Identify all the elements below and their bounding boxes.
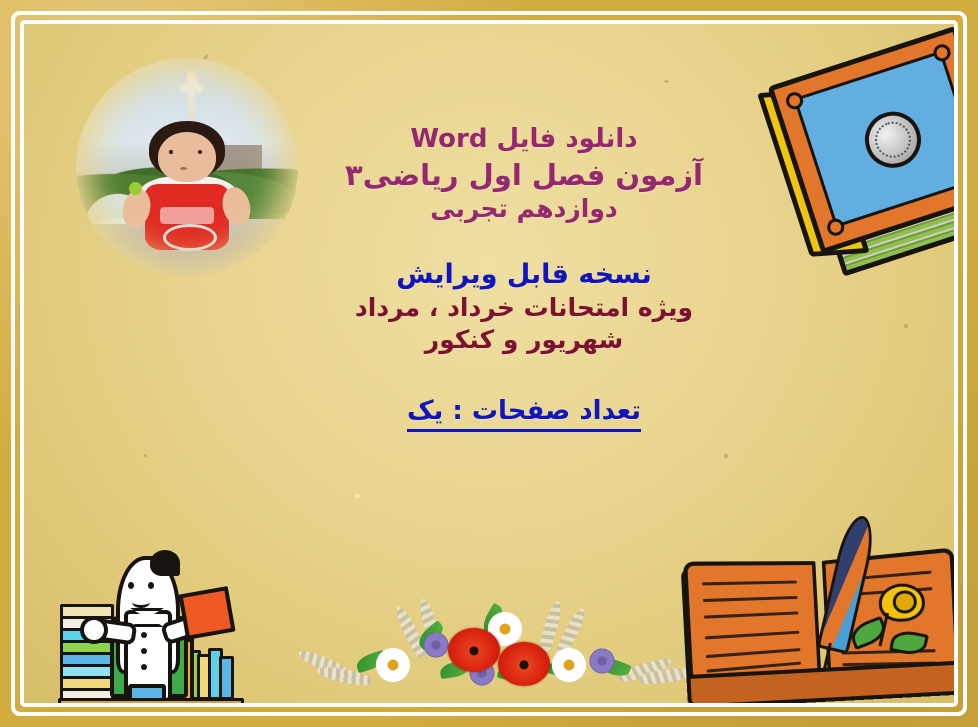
librarian-character-with-books-icon xyxy=(58,536,250,703)
headline-line-3: دوازدهم تجربی xyxy=(274,194,774,224)
open-book-with-quill-icon xyxy=(680,545,954,703)
text-spacer xyxy=(274,354,774,396)
poster-text-block: دانلود فایل Word آزمون فصل اول ریاضی۳ دو… xyxy=(274,124,774,432)
headline-line-1: دانلود فایل Word xyxy=(274,124,774,155)
paper-speck xyxy=(144,454,147,457)
subhead-editable-version: نسخه قابل ویرایش xyxy=(274,259,774,291)
subhead-konkur: شهریور و کنکور xyxy=(274,325,774,355)
paper-speck xyxy=(904,324,908,328)
standing-book xyxy=(219,656,234,700)
child-photo-oval xyxy=(76,58,298,276)
poster-canvas: دانلود فایل Word آزمون فصل اول ریاضی۳ دو… xyxy=(0,0,978,727)
paper-speck xyxy=(354,494,360,498)
librarian-button xyxy=(141,664,147,670)
photo-child-face xyxy=(158,132,216,182)
photo-child-eye-right xyxy=(198,150,202,154)
librarian-button xyxy=(141,632,147,638)
subhead-exam-months: ویژه امتحانات خرداد ، مرداد xyxy=(274,293,774,323)
paper-speck xyxy=(664,80,669,83)
librarian-button xyxy=(141,648,147,654)
photo-child-eye-left xyxy=(169,150,173,154)
poppy-flower xyxy=(498,642,550,686)
librarian-eye-right xyxy=(148,582,154,589)
photo-image xyxy=(76,58,298,276)
librarian-held-book xyxy=(178,586,235,640)
headline-line-2: آزمون فصل اول ریاضی۳ xyxy=(274,158,774,192)
closed-book-cover xyxy=(768,26,954,255)
poppy-flower xyxy=(448,628,500,672)
librarian-eye-left xyxy=(128,582,134,589)
librarian-hand-left xyxy=(80,616,108,644)
wildflower-bouquet-icon xyxy=(312,590,692,702)
parchment-background: دانلود فایل Word آزمون فصل اول ریاضی۳ دو… xyxy=(24,24,954,703)
bookshelf-board xyxy=(58,698,244,703)
librarian-smile xyxy=(132,596,150,608)
librarian-hair xyxy=(150,550,180,576)
page-count-note: تعداد صفحات : یک xyxy=(407,396,641,432)
text-spacer xyxy=(274,223,774,259)
daisy-flower xyxy=(544,642,594,688)
paper-speck xyxy=(724,454,728,458)
daisy-flower xyxy=(368,642,418,688)
